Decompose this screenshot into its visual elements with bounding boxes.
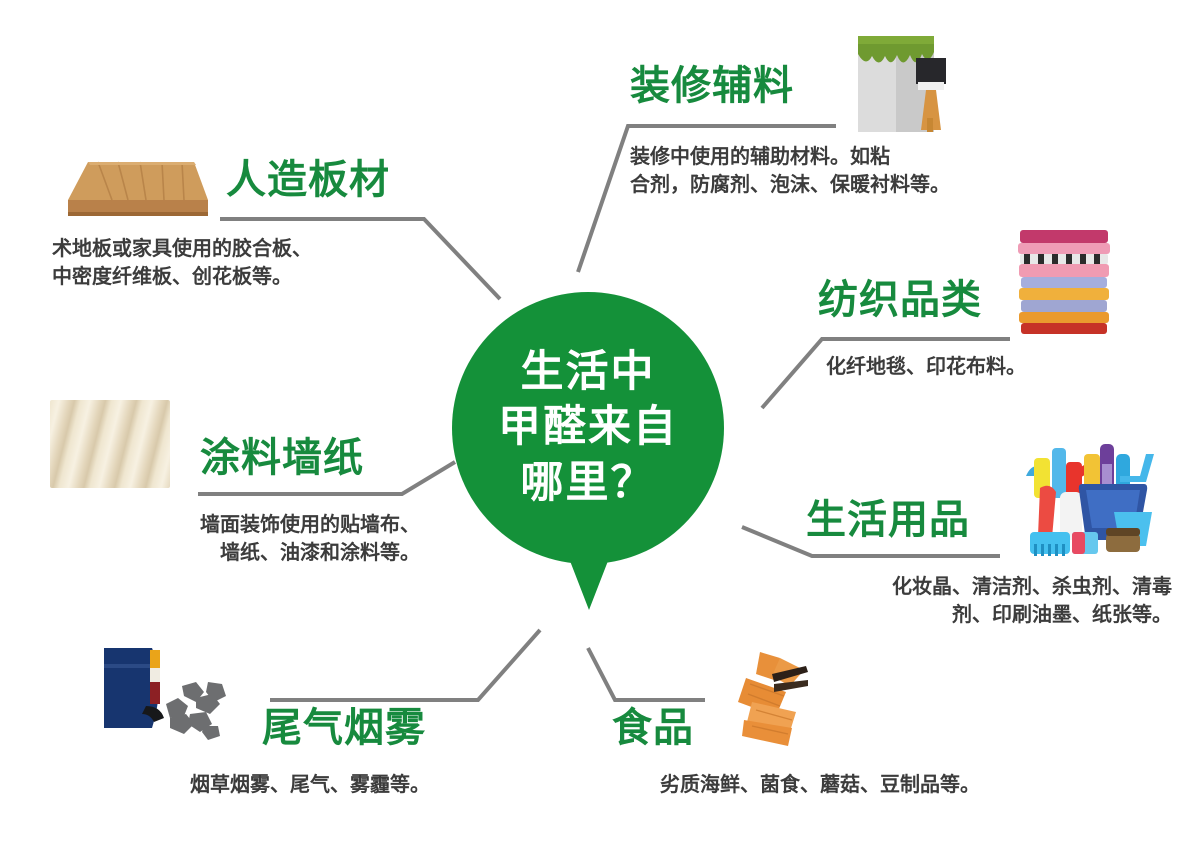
node-desc-textiles-wrap: 化纤地毯、印花布料。	[826, 352, 1186, 380]
node-man-made-boards[interactable]: 人造板材	[226, 160, 390, 200]
node-title-textiles: 纺织品类	[818, 280, 982, 320]
node-daily-necessities[interactable]: 生活用品	[806, 500, 970, 540]
node-title-paint-wallpaper: 涂料墙纸	[200, 438, 364, 478]
connector-food	[588, 648, 705, 700]
node-exhaust-smoke[interactable]: 尾气烟雾	[262, 708, 426, 748]
towel-stack-icon	[1014, 228, 1114, 336]
node-desc-decoration-materials-wrap: 装修中使用的辅助材料。如粘 合剂，防腐剂、泡沫、保暖衬料等。	[630, 142, 1010, 199]
node-desc-paint-wallpaper-wrap: 墙面装饰使用的贴墙布、 墙纸、油漆和涂料等。	[52, 510, 420, 567]
cleaning-supplies-icon	[1008, 440, 1158, 565]
node-title-decoration-materials: 装修辅料	[630, 66, 794, 106]
node-desc-daily-necessities-wrap: 化妆晶、清洁剂、杀虫剂、清毒 剂、印刷油墨、纸张等。	[790, 572, 1172, 629]
node-desc-food: 劣质海鲜、菌食、蘑菇、豆制品等。	[590, 770, 1050, 798]
node-desc-textiles: 化纤地毯、印花布料。	[826, 352, 1186, 380]
wood-board-icon	[52, 158, 210, 220]
node-desc-daily-necessities: 化妆晶、清洁剂、杀虫剂、清毒 剂、印刷油墨、纸张等。	[790, 572, 1172, 629]
central-bubble: 生活中 甲醛来自 哪里？	[452, 292, 724, 564]
node-title-exhaust-smoke: 尾气烟雾	[262, 708, 426, 748]
node-desc-man-made-boards: 术地板或家具使用的胶合板、 中密度纤维板、创花板等。	[52, 234, 412, 291]
central-bubble-tail	[565, 548, 613, 610]
node-paint-wallpaper[interactable]: 涂料墙纸	[200, 438, 364, 478]
node-desc-food-wrap: 劣质海鲜、菌食、蘑菇、豆制品等。	[590, 770, 1050, 798]
node-title-food: 食品	[612, 708, 694, 748]
node-desc-exhaust-smoke-wrap: 烟草烟雾、尾气、雾霾等。	[100, 770, 520, 798]
node-decoration-materials[interactable]: 装修辅料	[630, 66, 794, 106]
connector-exhaust-smoke	[270, 630, 540, 700]
car-exhaust-icon	[96, 642, 236, 752]
node-desc-exhaust-smoke: 烟草烟雾、尾气、雾霾等。	[100, 770, 520, 798]
infographic-canvas: 生活中 甲醛来自 哪里？ 装修辅料 装修中使用的辅助材料。如粘 合剂，防腐剂、泡…	[0, 0, 1200, 846]
node-title-man-made-boards: 人造板材	[226, 160, 390, 200]
node-food[interactable]: 食品	[612, 708, 694, 748]
central-bubble-text: 生活中 甲醛来自 哪里？	[498, 345, 678, 510]
node-desc-decoration-materials: 装修中使用的辅助材料。如粘 合剂，防腐剂、泡沫、保暖衬料等。	[630, 142, 1010, 199]
node-desc-man-made-boards-wrap: 术地板或家具使用的胶合板、 中密度纤维板、创花板等。	[52, 234, 412, 291]
fried-food-icon	[726, 650, 818, 750]
paint-can-icon	[836, 14, 956, 132]
node-desc-paint-wallpaper: 墙面装饰使用的贴墙布、 墙纸、油漆和涂料等。	[52, 510, 420, 567]
node-title-daily-necessities: 生活用品	[806, 500, 970, 540]
node-textiles[interactable]: 纺织品类	[818, 280, 982, 320]
wallpaper-roll-icon	[50, 400, 170, 488]
